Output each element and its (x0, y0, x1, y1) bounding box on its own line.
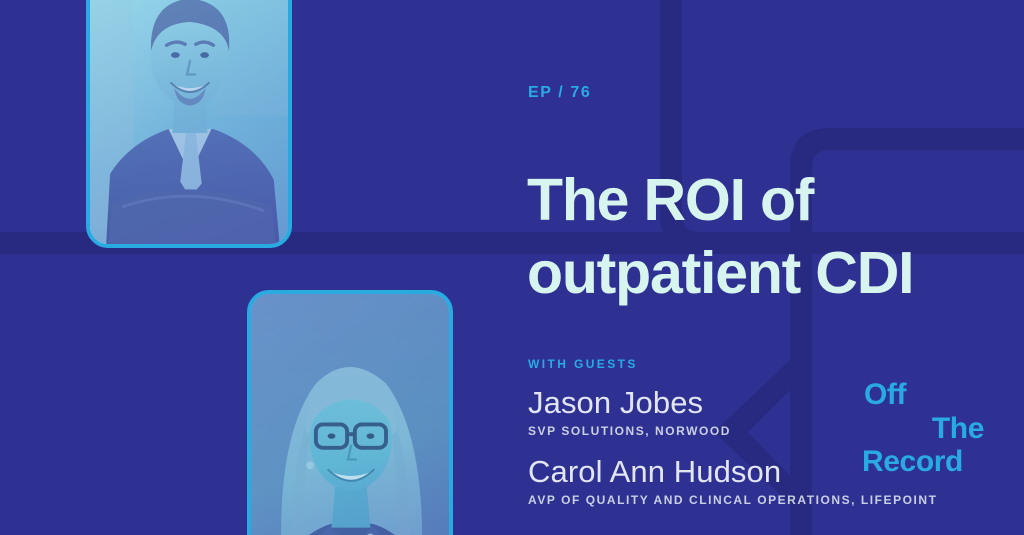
logo-line-off: Off (862, 378, 1012, 412)
episode-title: The ROI of outpatient CDI (527, 170, 1024, 306)
guest-photo-duotone-overlay-2 (251, 294, 449, 535)
off-the-record-logo: Off The Record (862, 378, 1012, 479)
guest-name-1: Jason Jobes (528, 386, 731, 420)
guest-role-2: AVP OF QUALITY AND CLINCAL OPERATIONS, L… (528, 493, 938, 507)
guest-photo-jason-jobes (86, 0, 292, 248)
episode-number-label: EP / 76 (528, 84, 591, 102)
logo-line-the: The (862, 412, 1012, 446)
podcast-episode-cover: EP / 76 The ROI of outpatient CDI WITH G… (0, 0, 1024, 535)
guest-photo-duotone-overlay-1 (90, 0, 288, 244)
guest-photo-carol-ann-hudson (247, 290, 453, 535)
guest-entry-1: Jason Jobes SVP SOLUTIONS, NORWOOD (528, 386, 731, 438)
episode-title-line-2: outpatient CDI (527, 243, 1024, 305)
episode-title-line-1: The ROI of (527, 170, 1024, 232)
logo-line-record: Record (862, 445, 1012, 479)
with-guests-heading: WITH GUESTS (528, 357, 638, 371)
guest-role-1: SVP SOLUTIONS, NORWOOD (528, 424, 731, 438)
